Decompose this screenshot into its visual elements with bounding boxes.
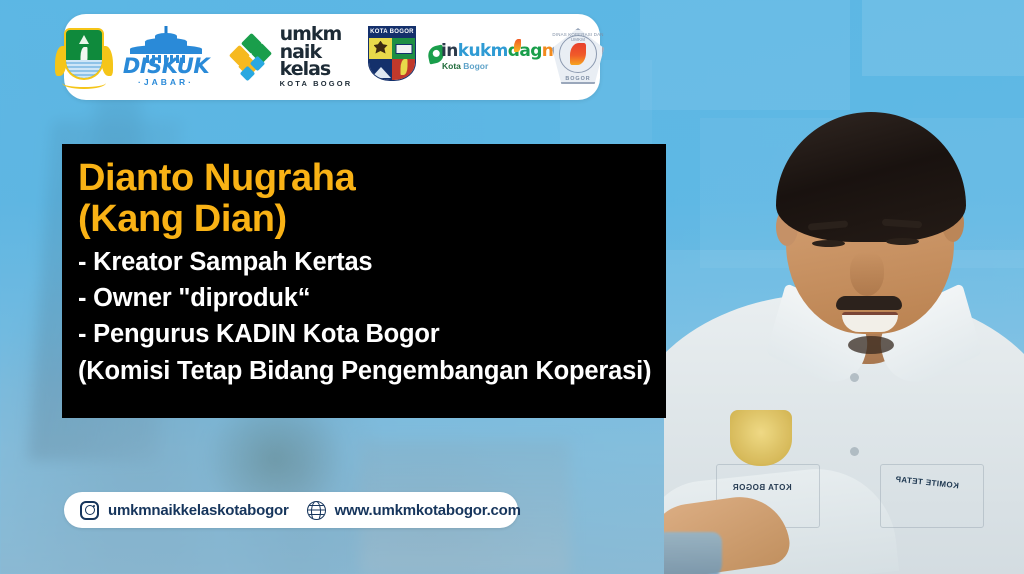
dinkukmdagin-subtitle: Kota Bogor [442, 61, 488, 71]
speaker-info-box: Dianto Nugraha (Kang Dian) - Kreator Sam… [62, 144, 666, 418]
contact-bar: umkmnaikkelaskotabogor www.umkmkotabogor… [64, 492, 518, 528]
speaker-role-item: (Komisi Tetap Bidang Pengembangan Kopera… [78, 353, 650, 389]
portrait-hair [776, 112, 966, 242]
diskuk-subtitle: ·JABAR· [114, 77, 218, 87]
poster-canvas: KOTA BOGOR KOMITE TETAP DISKUK ·JABAR· [0, 0, 1024, 574]
umkm-subtitle: KOTA BOGOR [280, 81, 353, 88]
portrait-mouth [842, 312, 898, 332]
portrait-cup [664, 532, 722, 574]
jabar-provincial-emblem-icon [58, 26, 110, 88]
portrait-moustache [836, 296, 902, 310]
diskuk-wordmark: DISKUK [114, 56, 218, 77]
portrait-button-1 [850, 373, 859, 382]
speaker-nickname-line: (Kang Dian) [78, 199, 650, 240]
umkm-naik-kelas-logo-icon: umkm naik kelas KOTA BOGOR [226, 26, 358, 88]
seal-ring-bottom-text: BOGOR [550, 76, 606, 82]
kota-bogor-coat-of-arms-icon: KOTA BOGOR [366, 26, 418, 88]
portrait-eye-left [812, 240, 845, 247]
speaker-role-item: - Kreator Sampah Kertas [78, 244, 650, 280]
instagram-icon[interactable] [80, 501, 99, 520]
bogor-agency-seal-icon: DINAS KOPERASI DAN UMKM BOGOR [550, 27, 606, 87]
instagram-handle[interactable]: umkmnaikkelaskotabogor [108, 502, 289, 519]
dinkukmdagin-wordmark: inkukmdagn [441, 43, 553, 60]
speaker-roles-list: - Kreator Sampah Kertas - Owner "diprodu… [78, 244, 650, 389]
umkm-diamond-mark [232, 34, 276, 80]
sponsor-logo-bar: DISKUK ·JABAR· umkm naik kelas KOTA BOGO… [64, 14, 600, 100]
umkm-line-3: kelas [280, 61, 353, 78]
portrait-nose [850, 252, 884, 296]
website-url[interactable]: www.umkmkotabogor.com [335, 502, 521, 519]
speaker-portrait: KOTA BOGOR KOMITE TETAP [664, 0, 1024, 574]
portrait-kadin-emblem [730, 410, 792, 466]
seal-ring-top-text: DINAS KOPERASI DAN UMKM [550, 32, 606, 42]
speaker-role-item: - Owner "diproduk“ [78, 280, 650, 316]
portrait-beard [848, 336, 894, 354]
speaker-role-item: - Pengurus KADIN Kota Bogor [78, 316, 650, 352]
portrait-pocket-right [880, 464, 984, 528]
portrait-button-2 [850, 447, 859, 456]
portrait-kadin-label: KOTA BOGOR [722, 483, 802, 492]
diskuk-jabar-logo-icon: DISKUK ·JABAR· [114, 26, 218, 88]
globe-icon[interactable] [307, 501, 326, 520]
dinkukmdagin-logo-icon: inkukmdagn Kota Bogor [428, 26, 540, 88]
speaker-name-line-1: Dianto Nugraha [78, 158, 650, 199]
kota-bogor-header-band: KOTA BOGOR [368, 26, 416, 37]
portrait-eye-right [886, 238, 919, 245]
